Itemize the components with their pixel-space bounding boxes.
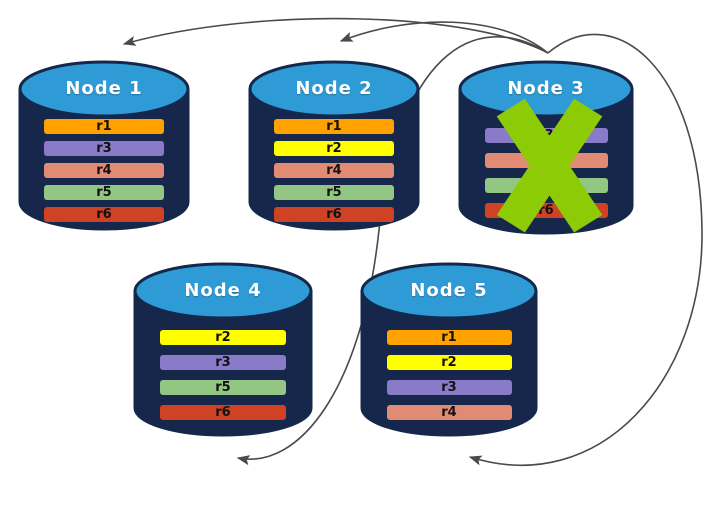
replica-r5[interactable]: r5 — [274, 185, 394, 200]
replica-r1[interactable]: r1 — [387, 330, 512, 345]
replica-r4[interactable]: r4 — [485, 153, 608, 168]
replica-r6[interactable]: r6 — [160, 405, 286, 420]
replica-r2[interactable]: r2 — [160, 330, 286, 345]
cylinder-top — [135, 264, 311, 318]
cylinder-top — [460, 62, 632, 116]
node-2[interactable]: Node 2r1r2r4r5r6 — [248, 60, 420, 232]
cylinder-top — [20, 62, 188, 116]
replica-r1[interactable]: r1 — [44, 119, 164, 134]
replication-diagram: Node 1r1r3r4r5r6Node 2r1r2r4r5r6Node 3r3… — [0, 0, 708, 508]
replica-r5[interactable]: r5 — [160, 380, 286, 395]
replica-r6[interactable]: r6 — [44, 207, 164, 222]
replica-r5[interactable]: r5 — [44, 185, 164, 200]
node-2-replica-list: r1r2r4r5r6 — [248, 119, 420, 222]
replica-r5[interactable]: r5 — [485, 178, 608, 193]
node-3[interactable]: Node 3r3r4r5r6 — [458, 60, 634, 236]
replica-r4[interactable]: r4 — [387, 405, 512, 420]
edge-node3-to-node2 — [341, 22, 548, 53]
replica-r3[interactable]: r3 — [485, 128, 608, 143]
replica-r2[interactable]: r2 — [274, 141, 394, 156]
replica-r1[interactable]: r1 — [274, 119, 394, 134]
node-1[interactable]: Node 1r1r3r4r5r6 — [18, 60, 190, 232]
node-5-replica-list: r1r2r3r4 — [360, 330, 538, 420]
replica-r6[interactable]: r6 — [485, 203, 608, 218]
replica-r4[interactable]: r4 — [44, 163, 164, 178]
node-1-replica-list: r1r3r4r5r6 — [18, 119, 190, 222]
node-3-replica-list: r3r4r5r6 — [458, 128, 634, 218]
replica-r6[interactable]: r6 — [274, 207, 394, 222]
replica-r2[interactable]: r2 — [387, 355, 512, 370]
node-4[interactable]: Node 4r2r3r5r6 — [133, 262, 313, 438]
cylinder-top — [362, 264, 536, 318]
replica-r4[interactable]: r4 — [274, 163, 394, 178]
cylinder-top — [250, 62, 418, 116]
node-5[interactable]: Node 5r1r2r3r4 — [360, 262, 538, 438]
replica-r3[interactable]: r3 — [387, 380, 512, 395]
replica-r3[interactable]: r3 — [160, 355, 286, 370]
replica-r3[interactable]: r3 — [44, 141, 164, 156]
node-4-replica-list: r2r3r5r6 — [133, 330, 313, 420]
edge-node3-to-node1 — [124, 19, 548, 53]
